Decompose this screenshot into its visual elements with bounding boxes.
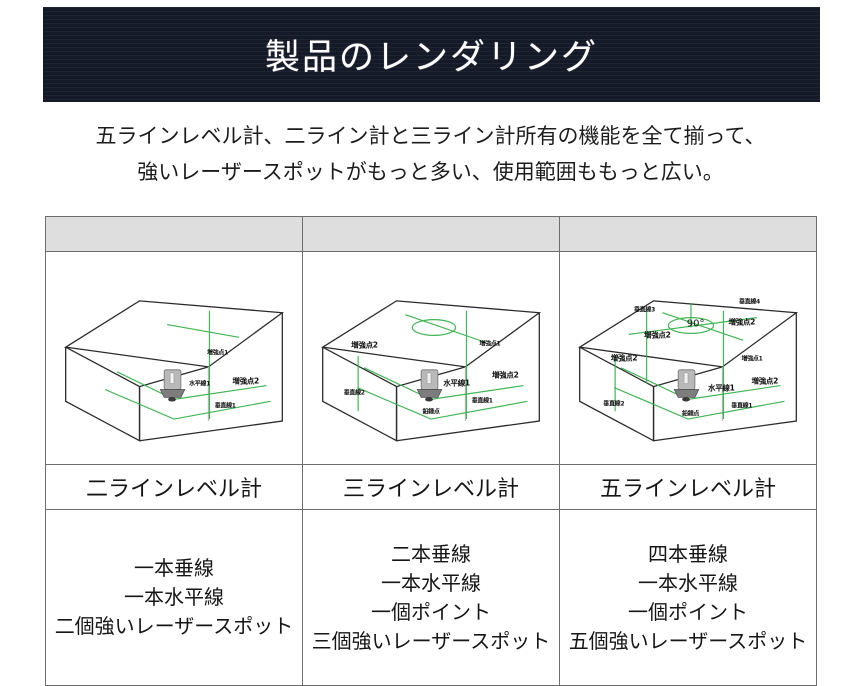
laser-level-device xyxy=(160,370,185,402)
header-cell-3 xyxy=(560,217,817,252)
diagram-label: 増強点2 xyxy=(644,329,671,340)
diagram-row: 増強点1 水平線1 増強点2 垂直線1 xyxy=(46,252,817,465)
spec-item: 一本水平線 xyxy=(560,569,816,598)
table-header-row xyxy=(46,217,817,252)
angle-label: 90° xyxy=(687,319,705,330)
diagram-label: 増強点1 xyxy=(742,354,763,363)
page-header-banner: 製品のレンダリング xyxy=(43,7,820,102)
diagram-label: 増強点2 xyxy=(492,369,519,380)
spec-item: 一本水平線 xyxy=(303,569,559,598)
spec-cell-five-line: 四本垂線 一本水平線 一個ポイント 五個強いレーザースポット xyxy=(560,510,817,686)
spec-row: 一本垂線 一本水平線 二個強いレーザースポット 二本垂線 一本水平線 一個ポイン… xyxy=(46,510,817,686)
diagram-five-line: 90° 垂直線3 垂直線4 増強点2 増強点2 増強点2 垂直線2 増強点1 水… xyxy=(560,252,816,464)
diagram-label: 増強点2 xyxy=(351,340,378,351)
product-name-two-line: 二ラインレベル計 xyxy=(46,465,303,510)
ceiling-laser-ellipse xyxy=(412,320,455,336)
laser-level-device xyxy=(417,370,442,402)
diagram-label: 垂直線4 xyxy=(739,296,760,305)
room-isometric-svg xyxy=(46,252,302,464)
spec-item: 一個ポイント xyxy=(560,598,816,627)
product-name-row: 二ラインレベル計 三ラインレベル計 五ラインレベル計 xyxy=(46,465,817,510)
subtitle-block: 五ラインレベル計、二ライン計と三ライン計所有の機能を全て揃って、 強いレーザース… xyxy=(0,118,861,190)
spec-item: 五個強いレーザースポット xyxy=(560,627,816,656)
page-title: 製品のレンダリング xyxy=(265,29,598,80)
spec-item: 三個強いレーザースポット xyxy=(303,627,559,656)
room-isometric-svg xyxy=(303,252,559,464)
diagram-label: 鉛錘点 xyxy=(682,409,699,418)
diagram-cell-five-line: 90° 垂直線3 垂直線4 増強点2 増強点2 増強点2 垂直線2 増強点1 水… xyxy=(560,252,817,465)
diagram-label: 垂直線2 xyxy=(344,387,365,396)
laser-lines xyxy=(357,311,527,419)
spec-cell-two-line: 一本垂線 一本水平線 二個強いレーザースポット xyxy=(46,510,303,686)
diagram-label: 増強点2 xyxy=(611,353,638,364)
laser-level-device xyxy=(674,370,699,402)
subtitle-line-2: 強いレーザースポットがもっと多い、使用範囲ももっと広い。 xyxy=(0,154,861,190)
diagram-label: 増強点2 xyxy=(752,376,779,387)
diagram-label: 垂直線1 xyxy=(215,400,236,409)
diagram-label: 鉛錘点 xyxy=(422,407,439,416)
diagram-label: 水平線1 xyxy=(443,378,470,389)
diagram-two-line: 増強点1 水平線1 増強点2 垂直線1 xyxy=(46,252,302,464)
product-name-five-line: 五ラインレベル計 xyxy=(560,465,817,510)
product-name-three-line: 三ラインレベル計 xyxy=(303,465,560,510)
diagram-label: 増強点2 xyxy=(232,376,259,387)
diagram-label: 増強点1 xyxy=(207,347,228,356)
diagram-label: 垂直線3 xyxy=(634,305,655,314)
diagram-cell-two-line: 増強点1 水平線1 増強点2 垂直線1 xyxy=(46,252,303,465)
spec-item: 二個強いレーザースポット xyxy=(46,612,302,641)
diagram-label: 増強点2 xyxy=(728,316,755,327)
header-cell-1 xyxy=(46,217,303,252)
diagram-label: 水平線1 xyxy=(189,379,210,388)
product-comparison-table: 増強点1 水平線1 増強点2 垂直線1 xyxy=(45,216,817,686)
spec-item: 一本垂線 xyxy=(46,554,302,583)
subtitle-line-1: 五ラインレベル計、二ライン計と三ライン計所有の機能を全て揃って、 xyxy=(0,118,861,154)
spec-cell-three-line: 二本垂線 一本水平線 一個ポイント 三個強いレーザースポット xyxy=(303,510,560,686)
spec-item: 二本垂線 xyxy=(303,540,559,569)
diagram-cell-three-line: 増強点2 垂直線2 増強点1 水平線1 増強点2 垂直線1 鉛錘点 xyxy=(303,252,560,465)
laser-lines xyxy=(105,311,270,419)
diagram-label: 垂直線1 xyxy=(472,396,493,405)
diagram-label: 垂直線2 xyxy=(603,398,624,407)
diagram-label: 垂直線1 xyxy=(731,400,752,409)
spec-item: 一個ポイント xyxy=(303,598,559,627)
diagram-three-line: 増強点2 垂直線2 増強点1 水平線1 増強点2 垂直線1 鉛錘点 xyxy=(303,252,559,464)
diagram-label: 水平線1 xyxy=(708,382,735,393)
diagram-label: 増強点1 xyxy=(479,339,500,348)
spec-item: 四本垂線 xyxy=(560,540,816,569)
spec-item: 一本水平線 xyxy=(46,583,302,612)
room-isometric-svg xyxy=(560,252,816,464)
header-cell-2 xyxy=(303,217,560,252)
